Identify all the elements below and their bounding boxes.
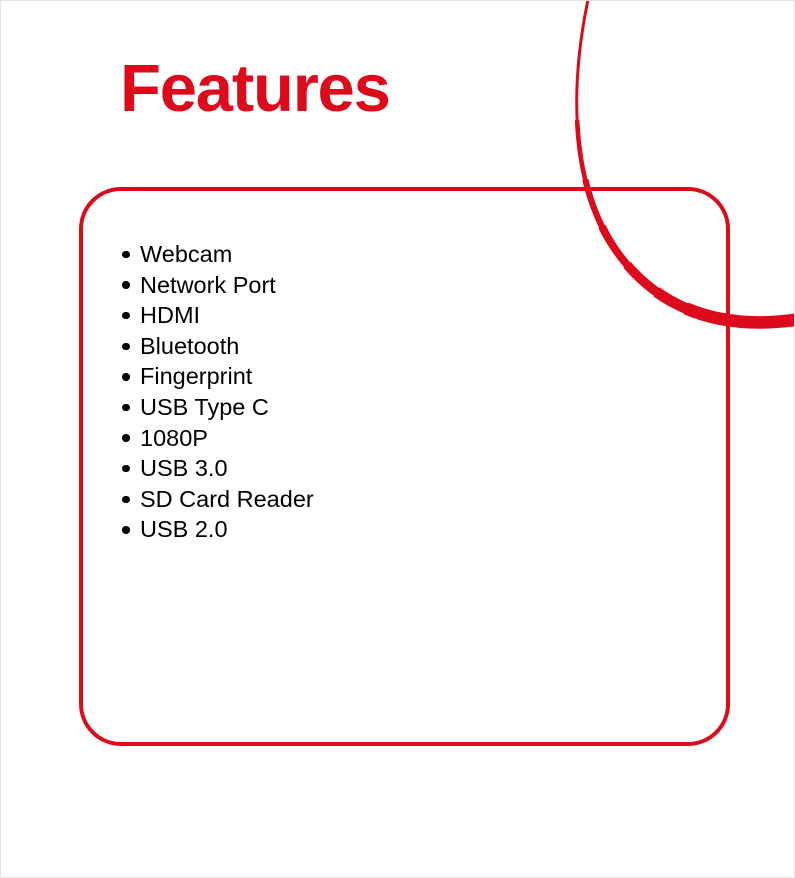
feature-list-item: USB 3.0 bbox=[122, 453, 314, 484]
bullet-icon bbox=[122, 465, 130, 473]
feature-list-item: USB 2.0 bbox=[122, 514, 314, 545]
feature-list-item: HDMI bbox=[122, 300, 314, 331]
feature-list-item: Network Port bbox=[122, 270, 314, 301]
features-card: WebcamNetwork PortHDMIBluetoothFingerpri… bbox=[79, 187, 730, 746]
page-title: Features bbox=[120, 55, 390, 122]
feature-list-item: Fingerprint bbox=[122, 361, 314, 392]
feature-list-item: USB Type C bbox=[122, 392, 314, 423]
bullet-icon bbox=[122, 404, 130, 412]
bullet-icon bbox=[122, 434, 130, 442]
features-slide: Features WebcamNetwork PortHDMIBluetooth… bbox=[0, 0, 795, 878]
bullet-icon bbox=[122, 251, 130, 259]
feature-list-item: SD Card Reader bbox=[122, 484, 314, 515]
feature-label: Network Port bbox=[140, 270, 276, 301]
feature-list-item: Webcam bbox=[122, 239, 314, 270]
feature-label: USB Type C bbox=[140, 392, 269, 423]
bullet-icon bbox=[122, 526, 130, 534]
feature-list-item: 1080P bbox=[122, 423, 314, 454]
feature-label: HDMI bbox=[140, 300, 200, 331]
feature-label: USB 3.0 bbox=[140, 453, 228, 484]
feature-label: USB 2.0 bbox=[140, 514, 228, 545]
bullet-icon bbox=[122, 281, 130, 289]
bullet-icon bbox=[122, 496, 130, 504]
feature-label: Webcam bbox=[140, 239, 232, 270]
bullet-icon bbox=[122, 312, 130, 320]
features-list: WebcamNetwork PortHDMIBluetoothFingerpri… bbox=[122, 239, 314, 545]
feature-label: SD Card Reader bbox=[140, 484, 314, 515]
feature-list-item: Bluetooth bbox=[122, 331, 314, 362]
feature-label: Bluetooth bbox=[140, 331, 239, 362]
bullet-icon bbox=[122, 373, 130, 381]
feature-label: 1080P bbox=[140, 423, 208, 454]
feature-label: Fingerprint bbox=[140, 361, 252, 392]
bullet-icon bbox=[122, 343, 130, 351]
